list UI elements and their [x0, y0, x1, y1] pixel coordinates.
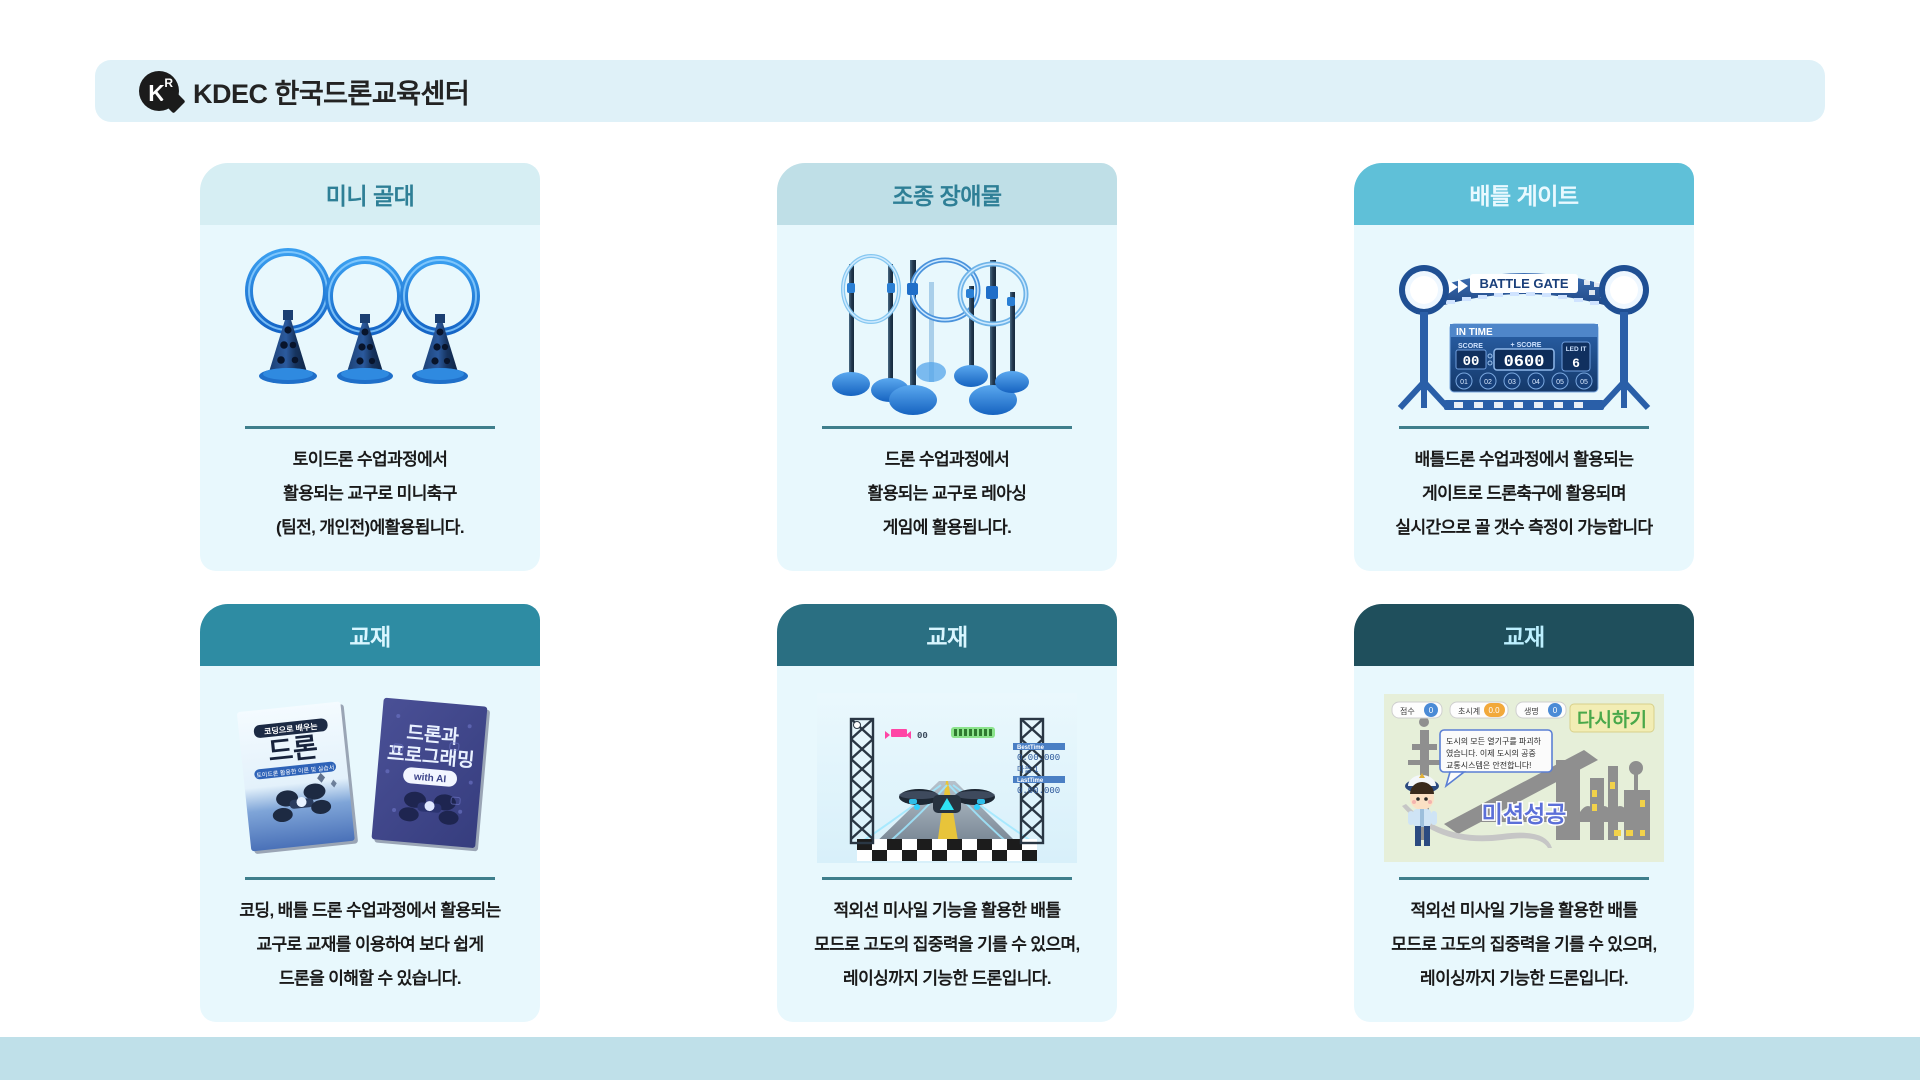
retry-label: 다시하기 [1577, 709, 1647, 731]
desc-line: 활용되는 교구로 레아싱 [868, 477, 1027, 511]
score-value: 0 [1429, 706, 1434, 715]
card-title: 미니 골대 [326, 177, 415, 211]
divider [1399, 877, 1649, 880]
desc-line: 모드로 고도의 집중력을 기를 수 있으며, [814, 928, 1079, 962]
divider [245, 877, 495, 880]
card-header: 배틀 게이트 [1354, 163, 1694, 225]
card-mini-goal[interactable]: 미니 골대 [200, 163, 540, 571]
card-grid: 미니 골대 [200, 163, 1720, 1022]
score-value: 00 [1463, 354, 1480, 370]
card-title: 교재 [1503, 618, 1544, 652]
card-header: 미니 골대 [200, 163, 540, 225]
desc-line: 모드로 고도의 집중력을 기를 수 있으며, [1391, 928, 1656, 962]
card-textbook-left[interactable]: 교재 [200, 604, 540, 1022]
divider [822, 426, 1072, 429]
card-description: 적외선 미사일 기능을 활용한 배틀 모드로 고도의 집중력을 기를 수 있으며… [796, 890, 1097, 1022]
desc-line: 활용되는 교구로 미니축구 [276, 477, 464, 511]
desc-line: 배틀드론 수업과정에서 활용되는 [1395, 443, 1652, 477]
card-body: 00 BestTime 0.00.000 마을 1 L [777, 666, 1117, 1022]
battle-gate-image: BATTLE GATE [1374, 239, 1674, 424]
desc-line: 드론을 이해할 수 있습니다. [239, 962, 500, 996]
card-header: 교재 [777, 604, 1117, 666]
card-title: 교재 [349, 618, 390, 652]
card-control-obstacle[interactable]: 조종 장애물 [777, 163, 1117, 571]
book1-title: 드론 [267, 732, 320, 767]
banner-text: BATTLE GATE [1479, 276, 1568, 291]
divider [822, 877, 1072, 880]
card-textbook-right[interactable]: 교재 [1354, 604, 1694, 1022]
desc-line: 레이싱까지 기능한 드론입니다. [1391, 962, 1656, 996]
desc-line: 게이트로 드론축구에 활용되며 [1395, 477, 1652, 511]
timer-value: 0.0 [1488, 706, 1500, 715]
best-time-label: BestTime [1017, 745, 1045, 751]
card-description: 코딩, 배틀 드론 수업과정에서 활용되는 교구로 교재를 이용하여 보다 쉽게… [221, 890, 518, 1022]
footer-strip [0, 1037, 1920, 1080]
card-header: 교재 [1354, 604, 1694, 666]
svg-text:01: 01 [1460, 379, 1468, 386]
divider [245, 426, 495, 429]
score-label: SCORE [1458, 343, 1483, 350]
card-body: 드론 수업과정에서 활용되는 교구로 레아싱 게임에 활용됩니다. [777, 225, 1117, 571]
brand-bar: K R KDEC 한국드론교육센터 [95, 60, 1825, 122]
timer-label: 초시계 [1458, 706, 1480, 716]
card-header: 조종 장애물 [777, 163, 1117, 225]
race-score: 00 [917, 731, 928, 741]
books-image: 코딩으로 배우는 드론 토이드론 활용한 이론 및 실습서 [220, 680, 520, 875]
card-body: 점수 0 초시계 0.0 생명 0 [1354, 666, 1694, 1022]
svg-text:05: 05 [1580, 379, 1588, 386]
desc-line: 적외선 미사일 기능을 활용한 배틀 [1391, 894, 1656, 928]
card-description: 토이드론 수업과정에서 활용되는 교구로 미니축구 (팀전, 개인전)에활용됩니… [258, 439, 482, 571]
card-description: 드론 수업과정에서 활용되는 교구로 레아싱 게임에 활용됩니다. [850, 439, 1045, 571]
best-time-value: 0.00.000 [1017, 753, 1060, 763]
plus-score-value: 0600 [1504, 353, 1545, 372]
led-value: 6 [1572, 356, 1580, 371]
panel-label: IN TIME [1456, 327, 1493, 338]
retry-button: 다시하기 [1570, 704, 1654, 732]
pole-rings-image [797, 239, 1097, 424]
svg-text:03: 03 [1508, 379, 1516, 386]
speech-line-2: 였습니다. 이제 도시의 공중 [1446, 748, 1536, 758]
drone-race-image: 00 BestTime 0.00.000 마을 1 L [797, 680, 1097, 875]
mission-game-image: 점수 0 초시계 0.0 생명 0 [1374, 680, 1674, 875]
card-body: 토이드론 수업과정에서 활용되는 교구로 미니축구 (팀전, 개인전)에활용됩니… [200, 225, 540, 571]
desc-line: 실시간으로 골 갯수 측정이 가능합니다 [1395, 511, 1652, 545]
desc-line: 레이싱까지 기능한 드론입니다. [814, 962, 1079, 996]
card-battle-gate[interactable]: 배틀 게이트 BATTLE GATE [1354, 163, 1694, 571]
svg-text:04: 04 [1532, 379, 1540, 386]
card-title: 조종 장애물 [892, 177, 1001, 211]
card-header: 교재 [200, 604, 540, 666]
desc-line: (팀전, 개인전)에활용됩니다. [276, 511, 464, 545]
life-value: 0 [1553, 706, 1558, 715]
score-label: 점수 [1400, 706, 1415, 716]
desc-line: 토이드론 수업과정에서 [276, 443, 464, 477]
kdec-logo-icon: K R [139, 71, 179, 111]
logo-letter-r: R [164, 76, 173, 90]
card-title: 교재 [926, 618, 967, 652]
card-title: 배틀 게이트 [1469, 177, 1578, 211]
life-label: 생명 [1524, 706, 1539, 716]
lap-label: 마을 1 [1017, 765, 1039, 774]
logo-letter-k: K [148, 82, 164, 105]
led-label: LED IT [1566, 346, 1587, 353]
last-time-label: LastTime [1017, 778, 1044, 784]
mission-success-text: 미션성공 [1482, 801, 1567, 827]
speech-line-3: 교통시스템은 안전합니다! [1446, 760, 1531, 770]
book2-line1: 드론과 [406, 721, 461, 748]
card-textbook-middle[interactable]: 교재 [777, 604, 1117, 1022]
speech-line-1: 도시의 모든 열기구를 파괴하 [1446, 736, 1542, 746]
desc-line: 코딩, 배틀 드론 수업과정에서 활용되는 [239, 894, 500, 928]
plus-score-label: + SCORE [1511, 342, 1542, 349]
divider [1399, 426, 1649, 429]
last-time-value: 0.00.000 [1017, 786, 1060, 796]
card-body: BATTLE GATE [1354, 225, 1694, 571]
svg-text:02: 02 [1484, 379, 1492, 386]
page-title: KDEC 한국드론교육센터 [193, 72, 469, 111]
desc-line: 게임에 활용됩니다. [868, 511, 1027, 545]
desc-line: 드론 수업과정에서 [868, 443, 1027, 477]
ring-cones-image [220, 239, 520, 424]
card-body: 코딩으로 배우는 드론 토이드론 활용한 이론 및 실습서 [200, 666, 540, 1022]
desc-line: 적외선 미사일 기능을 활용한 배틀 [814, 894, 1079, 928]
card-description: 적외선 미사일 기능을 활용한 배틀 모드로 고도의 집중력을 기를 수 있으며… [1373, 890, 1674, 1022]
svg-text:05: 05 [1556, 379, 1564, 386]
desc-line: 교구로 교재를 이용하여 보다 쉽게 [239, 928, 500, 962]
card-description: 배틀드론 수업과정에서 활용되는 게이트로 드론축구에 활용되며 실시간으로 골… [1377, 439, 1670, 571]
